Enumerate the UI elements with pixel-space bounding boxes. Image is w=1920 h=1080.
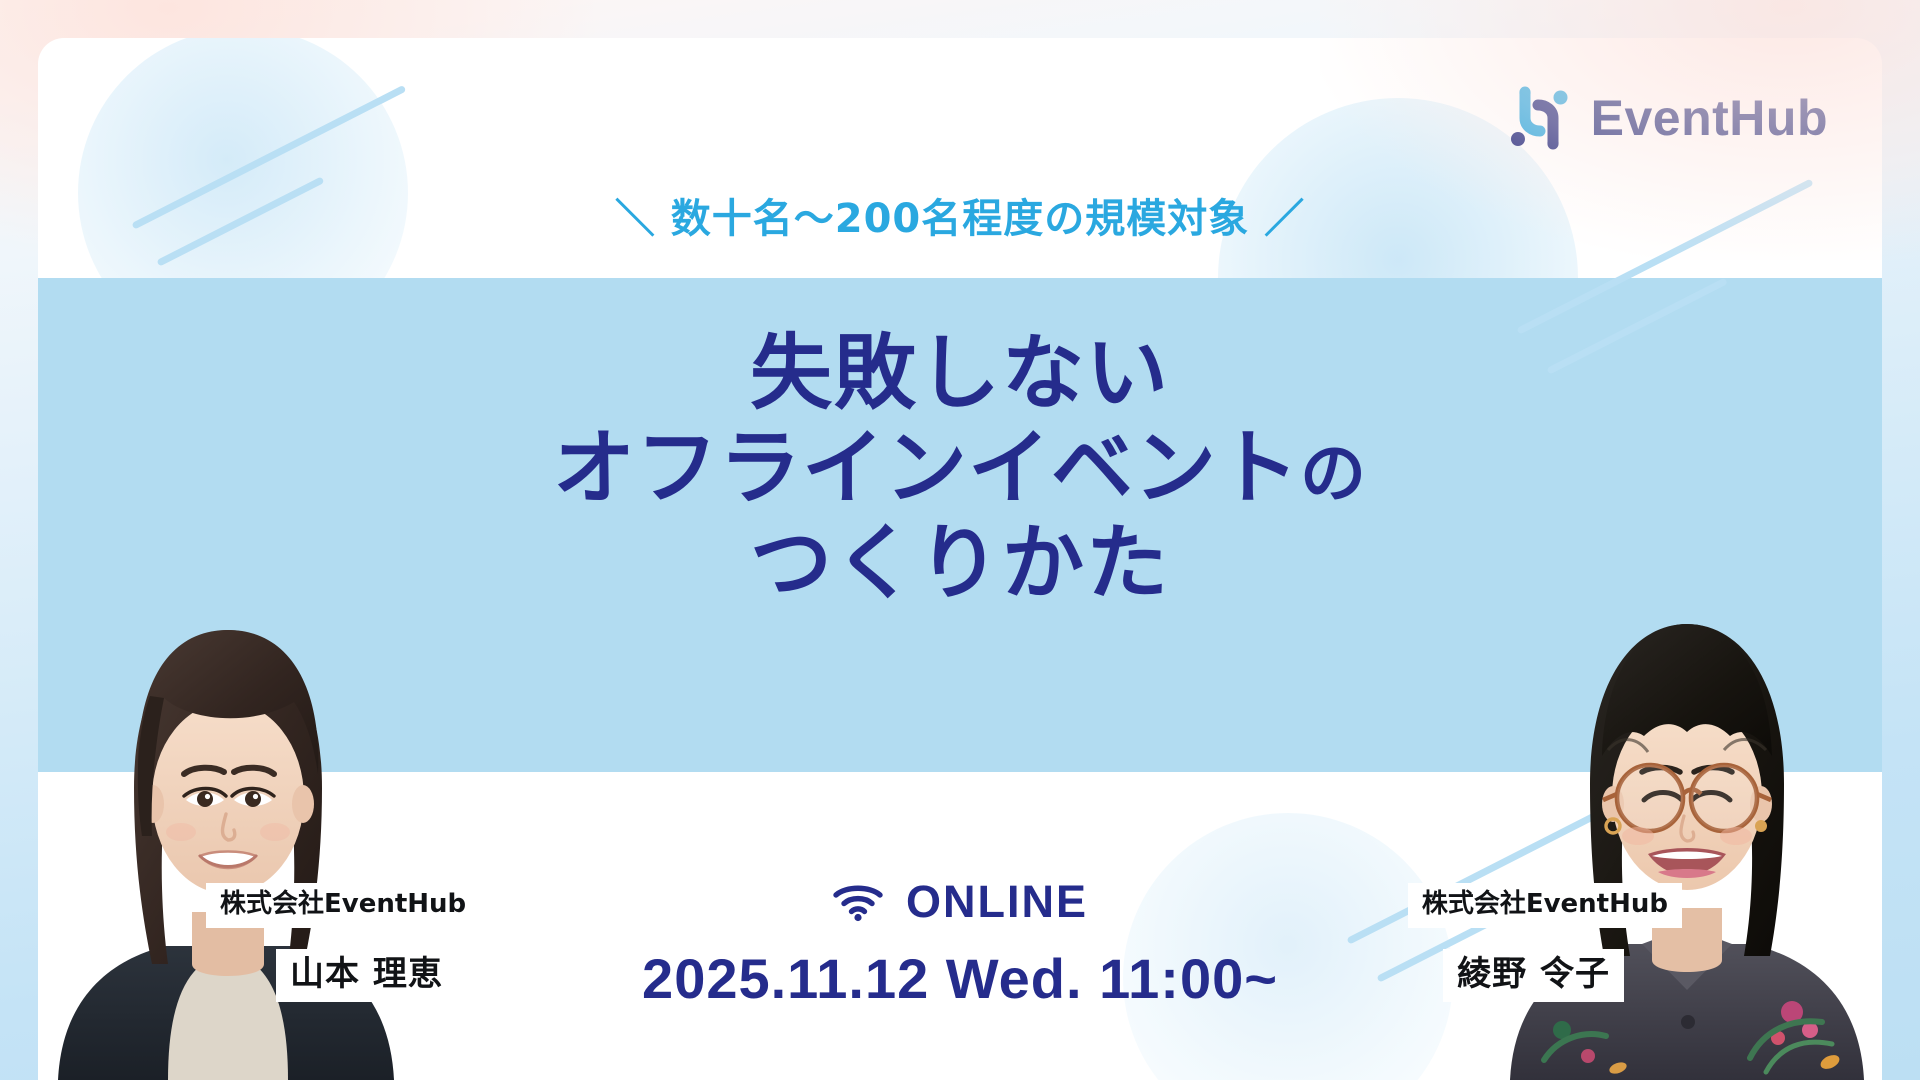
speaker-right-company: 株式会社EventHub	[1408, 883, 1682, 928]
audience-eyebrow: ＼ 数十名〜200名程度の規模対象 ／	[38, 186, 1882, 244]
speaker-right-name: 綾野 令子	[1443, 949, 1624, 1002]
wifi-icon	[832, 882, 884, 922]
speaker-left-illustration	[38, 560, 418, 1080]
speaker-photo-ayano	[1492, 560, 1882, 1080]
speaker-left: 株式会社EventHub 山本 理恵	[38, 560, 418, 1080]
headline-line-1: 失敗しない	[38, 326, 1882, 421]
speaker-right: 株式会社EventHub 綾野 令子	[1492, 560, 1882, 1080]
headline-line-2: オフラインイベントの	[38, 421, 1882, 516]
speaker-right-illustration	[1492, 560, 1882, 1080]
banner-card: EventHub ＼ 数十名〜200名程度の規模対象 ／ 失敗しない オフライン…	[38, 38, 1882, 1080]
eventhub-logo-mark-icon	[1505, 84, 1573, 152]
eventhub-logo[interactable]: EventHub	[1505, 84, 1828, 152]
speaker-left-name: 山本 理恵	[276, 949, 457, 1002]
eventhub-wordmark: EventHub	[1591, 93, 1828, 143]
page-background: EventHub ＼ 数十名〜200名程度の規模対象 ／ 失敗しない オフライン…	[0, 0, 1920, 1080]
headline-line-2-suffix: の	[1300, 435, 1367, 512]
online-label: ONLINE	[906, 876, 1088, 928]
speaker-photo-yamamoto	[38, 560, 418, 1080]
headline-line-2-main: オフラインイベント	[553, 421, 1300, 516]
speaker-left-company: 株式会社EventHub	[206, 883, 480, 928]
